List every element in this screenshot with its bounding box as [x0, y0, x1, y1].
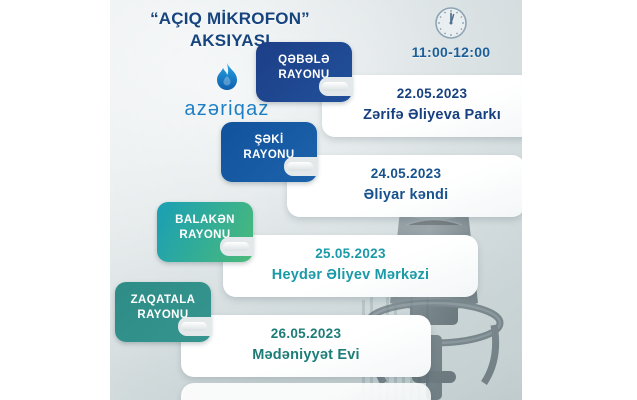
clock-icon: [434, 6, 468, 40]
time-text: 11:00-12:00: [396, 44, 506, 60]
event-date: 26.05.2023: [181, 326, 431, 341]
schedule-time: 11:00-12:00: [396, 6, 506, 60]
event-place: Mədəniyyət Evi: [181, 347, 431, 363]
flame-icon: [213, 62, 241, 94]
district-badge: ŞƏKİ RAYONU: [221, 122, 317, 182]
event-card-partial: [181, 383, 431, 400]
badge-connector: [322, 82, 348, 91]
event-card: 26.05.2023 Mədəniyyət Evi: [181, 315, 431, 377]
district-badge: ZAQATALA RAYONU: [115, 282, 211, 342]
event-date: 25.05.2023: [223, 246, 478, 261]
event-card: 25.05.2023 Heydər Əliyev Mərkəzi: [223, 235, 478, 297]
event-place: Zərifə Əliyeva Parkı: [322, 107, 522, 123]
event-poster: “AÇIQ MİKROFON” AKSIYASI azəriqaz: [110, 0, 522, 400]
district-badge: QƏBƏLƏ RAYONU: [256, 42, 352, 102]
badge-connector: [223, 242, 249, 251]
event-date: 24.05.2023: [287, 166, 522, 181]
badge-connector: [287, 162, 313, 171]
event-place: Əliyar kəndi: [287, 187, 522, 203]
screenshot-canvas: “AÇIQ MİKROFON” AKSIYASI azəriqaz: [0, 0, 637, 400]
headline-line-1: “AÇIQ MİKROFON”: [150, 9, 310, 28]
badge-connector: [181, 322, 207, 331]
event-card: 24.05.2023 Əliyar kəndi: [287, 155, 522, 217]
district-badge: BALAKƏN RAYONU: [157, 202, 253, 262]
event-place: Heydər Əliyev Mərkəzi: [223, 267, 478, 283]
